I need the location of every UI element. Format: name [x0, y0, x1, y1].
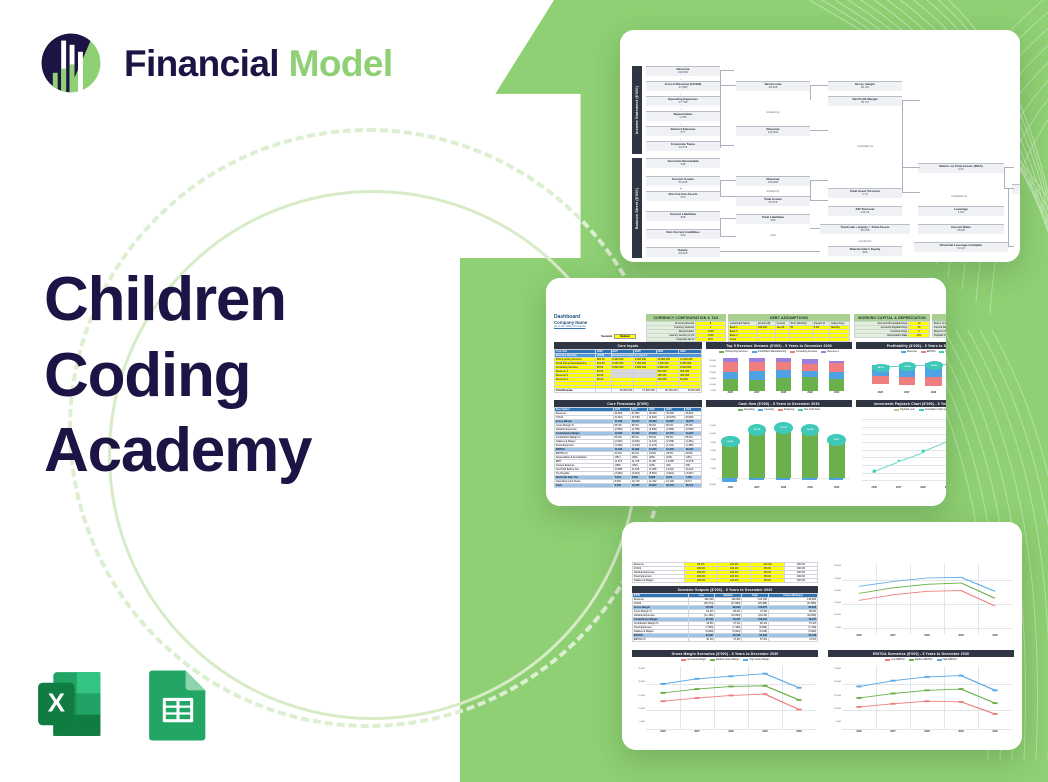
dupont-group-income-statement: Income Statement ($'000) [632, 66, 642, 154]
legend-item: Operating [738, 408, 755, 411]
legend-item: Revenue [901, 350, 917, 353]
ebitda-legend: Low EBITDA Medium EBITDA High EBITDA [828, 657, 1014, 662]
gross-margin-scenarios-chart: Gross Margin Scenarios ($'000) - 5 Years… [632, 650, 818, 736]
data-label: 8,066 [721, 436, 740, 448]
data-label: 47.8% [899, 362, 916, 371]
x-axis: 20262027 20282029 2030 [867, 391, 946, 397]
dupont-node: Total Liab + Equity = Total Assets50,578 [820, 224, 910, 234]
dupont-node: A/R Turnover144.24 [828, 206, 902, 216]
legend-item: Pickup-ping Services [719, 350, 747, 353]
key-metrics-panel: KEY METRICS Return on Equity (ROE)61.03 … [932, 314, 946, 338]
payback-legend: Payback year Cumulative Cash Generated (… [856, 407, 946, 412]
working-capital-panel-title: WORKING CAPITAL & DEPRECIATION [854, 314, 930, 321]
key-metrics-table: Return on Equity (ROE)61.03 Internal Rat… [932, 321, 946, 338]
scenario-selector[interactable]: Medium [614, 334, 636, 339]
legend-item: Low Gross Margin [681, 658, 706, 661]
dupont-node: Non Current Assets570 [646, 191, 720, 201]
legend-item: Net Cash Flow [798, 408, 820, 411]
dupont-connector-label: multiplied by [922, 194, 996, 198]
dupont-node: Equity49,629 [646, 247, 720, 257]
debt-panel-title: DEBT ASSUMPTIONS [728, 314, 850, 321]
data-point [897, 460, 900, 463]
dupont-node: Net Income48,818 [736, 81, 810, 91]
legend-item: Financing [778, 408, 794, 411]
dashboard-header: Dashboard Company Name Go to the Table o… [554, 314, 636, 339]
dupont-node: Gross margin65.0% [828, 81, 902, 91]
legend-item: High EBITDA [937, 658, 957, 661]
dupont-node: Total Asset Turnover2.70 [828, 188, 902, 198]
x-axis: 20262027 20282029 2030 [646, 730, 816, 736]
ebitda-chart-title: EBITDA Scenarios ($'000) - 5 Years to De… [828, 650, 1014, 657]
y-axis: -2,0004,000 6,0008,00010,000 12,000(2,00… [706, 414, 717, 486]
plot-area [842, 564, 1012, 634]
scenario-label: Scenario [601, 335, 612, 338]
financial-model-circle-chart-logo-icon [36, 28, 106, 98]
x-axis: 20262027 20282029 2030 [842, 730, 1012, 736]
core-financials-panel: Core Financials ($'000) Description 2026… [554, 400, 702, 488]
microsoft-excel-icon: X [32, 666, 108, 742]
scenario-summary-chart: 30,00025,000 20,00015,000 10,0005,000 [828, 562, 1014, 640]
dupont-node: Operating Expenses17,758 [646, 96, 720, 106]
data-point [922, 450, 925, 453]
gross-margin-legend: Low Gross Margin Medium Gross Margin Hig… [632, 657, 818, 662]
dupont-node: Current Ratio58.98 [918, 224, 1004, 234]
dupont-connector-label: Add [736, 233, 810, 237]
brand-name-part2: Model [289, 43, 393, 84]
table-row: Salaries & Wages105.0%100.0%95.0%100.0% [633, 579, 818, 583]
key-metrics-panel-title: KEY METRICS [932, 314, 946, 321]
x-axis: 20262027 20282029 2030 [862, 486, 946, 492]
data-label: 11,152 [774, 422, 793, 434]
core-financials-title: Core Financials ($'000) [554, 400, 702, 407]
legend-item: Consulting Services [790, 350, 817, 353]
working-capital-table: Accounts Receivable Days10 Accounts Paya… [854, 321, 930, 338]
scenario-assumptions-table: Revenue80.0%100.0%120.0%100.0% COGS105.0… [632, 562, 818, 583]
core-financials-table: Description 20262027 20282029 2030 Reven… [554, 407, 702, 488]
profitability-chart: Profitability ($'000) - 5 Years to Decem… [856, 342, 946, 397]
profitability-legend: Revenue EBITDA EBITDA % [856, 349, 946, 354]
dupont-node: Depreciation1,785 [646, 111, 720, 121]
dupont-node: Current Liabilities848 [646, 211, 720, 221]
core-inputs-panel: Core Inputs Cost Unit 20262027 20282029 … [554, 342, 702, 393]
ebitda-scenarios-chart: EBITDA Scenarios ($'000) - 5 Years to De… [828, 650, 1014, 736]
scenario-outputs-table: $'000 Low Medium High Active (Medium) Re… [632, 593, 818, 642]
dupont-node: Net Profit Margin35.7% [828, 96, 902, 106]
profitability-chart-title: Profitability ($'000) - 5 Years to Decem… [856, 342, 946, 349]
table-row: EBITDA %30.1%47.6%57.6%47.6% [633, 638, 818, 642]
dupont-node: Interest Expense577 [646, 126, 720, 136]
dupont-node: Non Current Liabilities500 [646, 229, 720, 239]
legend-item: Medium Gross Margin [710, 658, 740, 661]
file-format-badges: X [32, 666, 216, 742]
cash-flow-chart: Cash flow ($'000) - 5 Years to December … [706, 400, 852, 492]
y-axis: 25,00020,000 15,00010,000 5,000 [828, 664, 842, 730]
debt-table: Loan/Grant Name Amount ($) Current Term … [728, 321, 850, 342]
plot-area [862, 416, 946, 486]
dupont-node: Current Assets50,008 [646, 176, 720, 186]
dupont-group-balance-sheet: Balance Sheet ($'000) [632, 158, 642, 258]
dupont-node: Revenue136,800 [646, 66, 720, 76]
cash-flow-legend: Operating Investing Financing Net Cash F… [706, 407, 852, 412]
dupont-diagram: Income Statement ($'000) Balance Sheet (… [632, 66, 1014, 250]
legend-item: Payback year [894, 408, 914, 411]
brand-logo: Financial Model [36, 28, 393, 98]
screenshot-dupont-flowchart[interactable]: Income Statement ($'000) Balance Sheet (… [620, 30, 1020, 262]
brand-name: Financial Model [124, 45, 393, 82]
legend-item: Small Batch Manufacturing [752, 350, 787, 353]
dupont-node: Corporate Taxes20,576 [646, 141, 720, 151]
dupont-connector-label: divided by [828, 239, 902, 243]
revenue-streams-chart-title: Top 5 Revenue Streams ($'000) - 5 Years … [706, 342, 852, 349]
dupont-connector-label: multiplied by [828, 144, 902, 148]
data-label: 10,106 [801, 424, 820, 436]
dupont-node: Financial Leverage multiplier63.22 [914, 242, 1008, 252]
data-label: 8,071 [827, 434, 846, 446]
debt-panel: DEBT ASSUMPTIONS Loan/Grant Name Amount … [728, 314, 850, 342]
svg-text:X: X [48, 690, 65, 718]
currency-panel-title: CURRENCY CONFIGURATION & TAX [646, 314, 726, 321]
google-sheets-icon [140, 666, 216, 742]
plot-area: 8,066 10,719 11,152 10,106 8,071 [717, 416, 850, 486]
table-row: Cash8,46619,18530,33740,44348,514 [555, 484, 702, 488]
core-inputs-title: Core Inputs [554, 342, 702, 349]
scenario-outputs-panel: Scenario Outputs ($'000) - 5 Years to De… [632, 586, 818, 642]
working-capital-panel: WORKING CAPITAL & DEPRECIATION Accounts … [854, 314, 930, 338]
legend-item: Medium EBITDA [909, 658, 933, 661]
dupont-node: Cost of Revenue (COGS)47,880 [646, 81, 720, 91]
page-title: Children Coding Academy [44, 262, 311, 489]
dupont-connector-label: divided by [736, 110, 810, 114]
data-label: 46.1% [872, 364, 889, 373]
dupont-node: Leverage1.9% [918, 206, 1004, 216]
dupont-node: Total Assets50,578 [736, 196, 810, 206]
gross-margin-chart-title: Gross Margin Scenarios ($'000) - 5 Years… [632, 650, 818, 657]
cash-flow-chart-title: Cash flow ($'000) - 5 Years to December … [706, 400, 852, 407]
legend-item: Investing [758, 408, 774, 411]
legend-item: Low EBITDA [885, 658, 905, 661]
page-title-line-1: Children [44, 262, 311, 338]
x-axis: 20262027 20282029 2030 [717, 486, 850, 492]
y-axis: 30,00025,000 20,00015,000 10,0005,000 [828, 562, 842, 634]
data-point [873, 470, 876, 473]
investment-payback-chart: Investment Payback Chart ($'000) - 5 Yea… [856, 400, 946, 492]
plot-area [717, 358, 850, 391]
x-axis: 20262027 20282029 2030 [717, 391, 850, 397]
table-row: Total Revenue 26,600,00027,800,000 28,40… [555, 388, 702, 392]
dupont-node: Revenue136,800 [736, 176, 810, 186]
legend-item: Revenue 4 [821, 350, 839, 353]
scenario-outputs-title: Scenario Outputs ($'000) - 5 Years to De… [632, 586, 818, 593]
dupont-node: Shareholder's Equity800 [828, 246, 902, 256]
y-axis: 25,00020,000 15,00010,000 5,000 [632, 664, 646, 730]
brand-name-part1: Financial [124, 43, 279, 84]
payback-chart-title: Investment Payback Chart ($'000) - 5 Yea… [856, 400, 946, 407]
dupont-node: Return on Total Assets (ROA)0.97 [918, 163, 1004, 173]
revenue-streams-chart: Top 5 Revenue Streams ($'000) - 5 Years … [706, 342, 852, 397]
plot-area [646, 666, 816, 730]
page-title-line-3: Academy [44, 413, 311, 489]
x-axis: 20262027 20282029 2030 [842, 634, 1012, 640]
dupont-node: Revenue136,800 [736, 126, 810, 136]
dupont-node: Total Liabilities949 [736, 214, 810, 224]
page-title-line-2: Coding [44, 338, 311, 414]
table-of-contents-link[interactable]: Go to the Table of Contents [554, 325, 636, 328]
currency-panel: CURRENCY CONFIGURATION & TAX Currency Ro… [646, 314, 726, 342]
dupont-connector-label: divided by [736, 189, 810, 193]
dupont-node: Accounts Receivable948 [646, 158, 720, 168]
data-label: 49.8% [926, 361, 943, 370]
legend-item: EBITDA % [939, 350, 946, 353]
screenshot-dashboard[interactable]: Dashboard Company Name Go to the Table o… [546, 278, 946, 506]
plot-area: 46.1% 47.8% 49.8% 47.9% 46.2% [867, 358, 946, 391]
currency-table: Currency Rounds$ Currency Selector1 Deno… [646, 321, 726, 342]
screenshot-scenario-outputs[interactable]: Revenue80.0%100.0%120.0%100.0% COGS105.0… [622, 522, 1022, 750]
y-axis: 5,00010,000 15,00020,000 25,00030,000 [706, 356, 717, 391]
plot-area [842, 666, 1012, 730]
legend-item: EBITDA [921, 350, 936, 353]
legend-item: High Gross Margin [743, 658, 769, 661]
legend-item: Cumulative Cash Generated (Yearly) [919, 408, 946, 411]
core-inputs-table: Cost Unit 20262027 20282029 2030 Revenue… [554, 349, 702, 393]
promo-banner: Financial Model Children Coding Academy … [0, 0, 1048, 782]
revenue-streams-legend: Pickup-ping Services Small Batch Manufac… [706, 349, 852, 354]
